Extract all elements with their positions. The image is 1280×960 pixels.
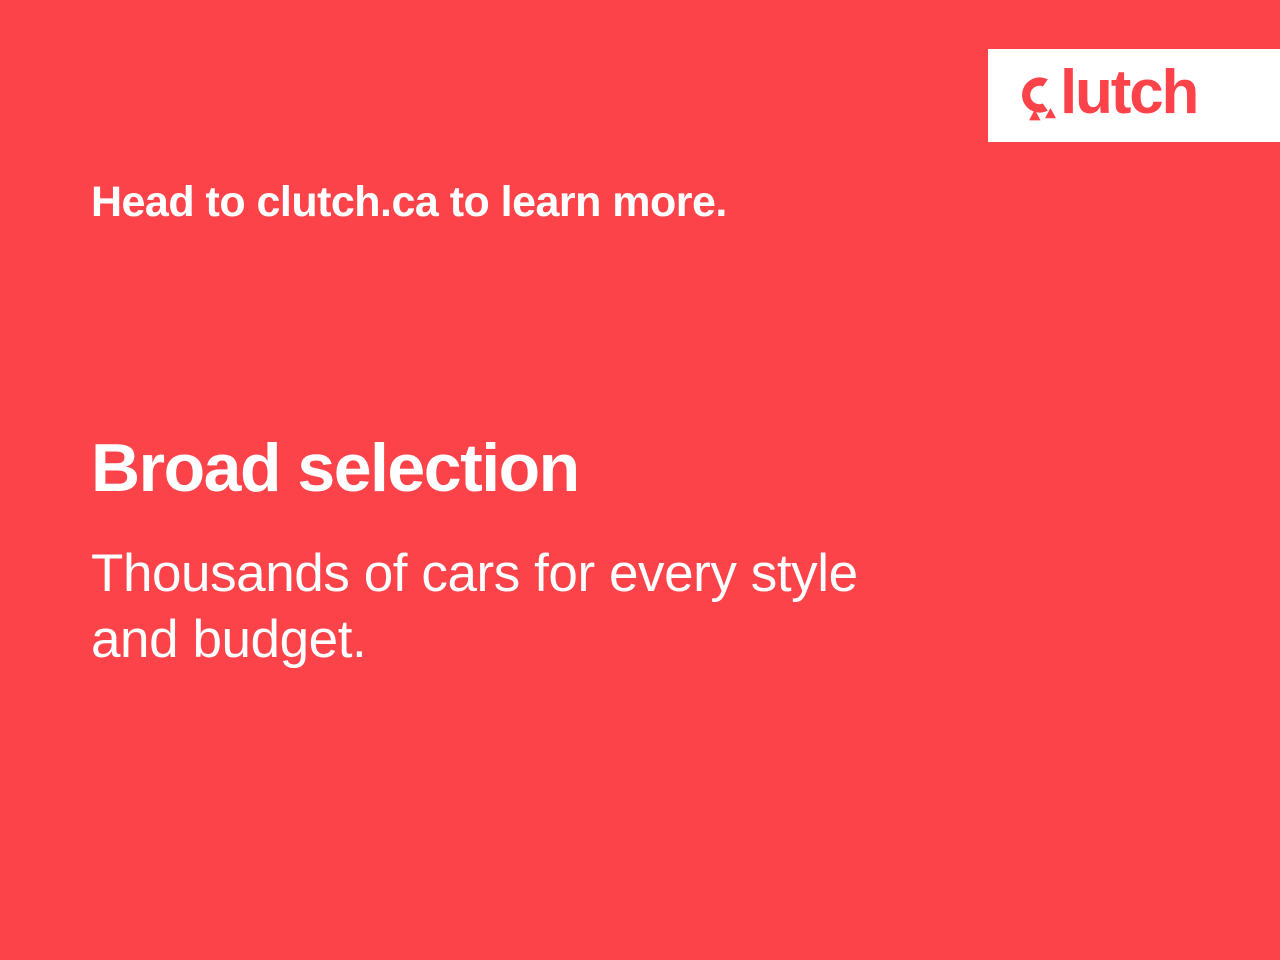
tagline-text: Head to clutch.ca to learn more. bbox=[91, 178, 727, 227]
subheadline-text: Thousands of cars for every style and bu… bbox=[91, 541, 1051, 672]
brand-logo-badge[interactable]: lutch bbox=[988, 49, 1280, 142]
headline-text: Broad selection bbox=[91, 432, 579, 505]
brand-wordmark: lutch bbox=[1060, 62, 1197, 124]
subheadline-line-2: and budget. bbox=[91, 607, 1051, 673]
brand-logo-lockup: lutch bbox=[1014, 67, 1197, 125]
slide-canvas: lutch Head to clutch.ca to learn more. B… bbox=[0, 0, 1280, 960]
subheadline-line-1: Thousands of cars for every style bbox=[91, 541, 1051, 607]
clutch-c-mark-icon bbox=[1014, 70, 1058, 122]
